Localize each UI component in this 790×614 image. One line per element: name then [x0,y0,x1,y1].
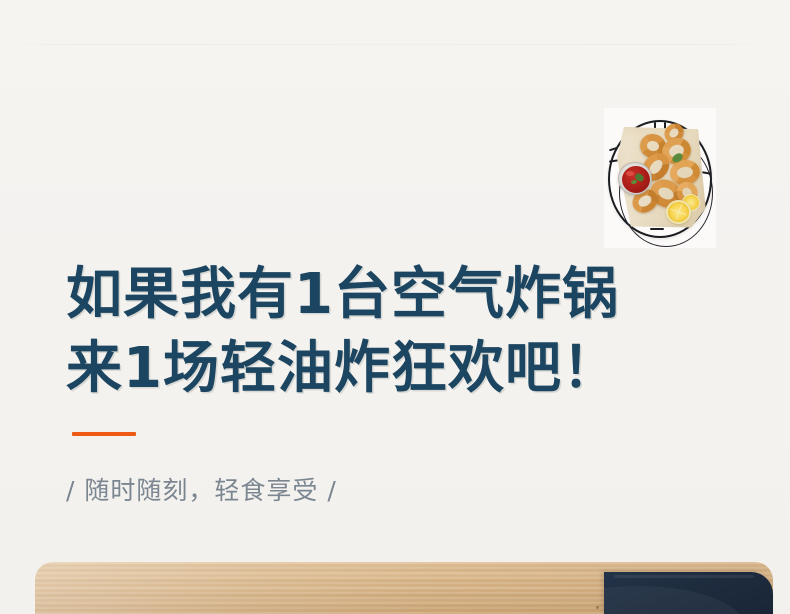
sauce-herb-icon [631,179,638,184]
promo-banner: 如果我有1台空气炸锅 来1场轻油炸狂欢吧！ / 随时随刻，轻食享受 / [0,0,790,614]
headline-block: 如果我有1台空气炸锅 来1场轻油炸狂欢吧！ [66,258,706,406]
air-fryer-body [604,572,773,614]
headline-line-2: 来1场轻油炸狂欢吧！ [66,332,706,406]
orange-accent-rule [72,432,136,436]
air-fryer-highlight [614,575,754,578]
background-seam [0,44,790,45]
dipping-sauce-bowl [618,162,652,195]
subtitle-text: / 随时随刻，轻食享受 / [66,474,337,508]
tomato-sauce [622,166,650,193]
headline-line-1: 如果我有1台空气炸锅 [66,258,706,332]
lemon-slice [666,200,691,224]
food-photo-inset [604,108,716,248]
board-detail-dot [596,606,599,609]
basket-wire-strut [650,228,664,230]
